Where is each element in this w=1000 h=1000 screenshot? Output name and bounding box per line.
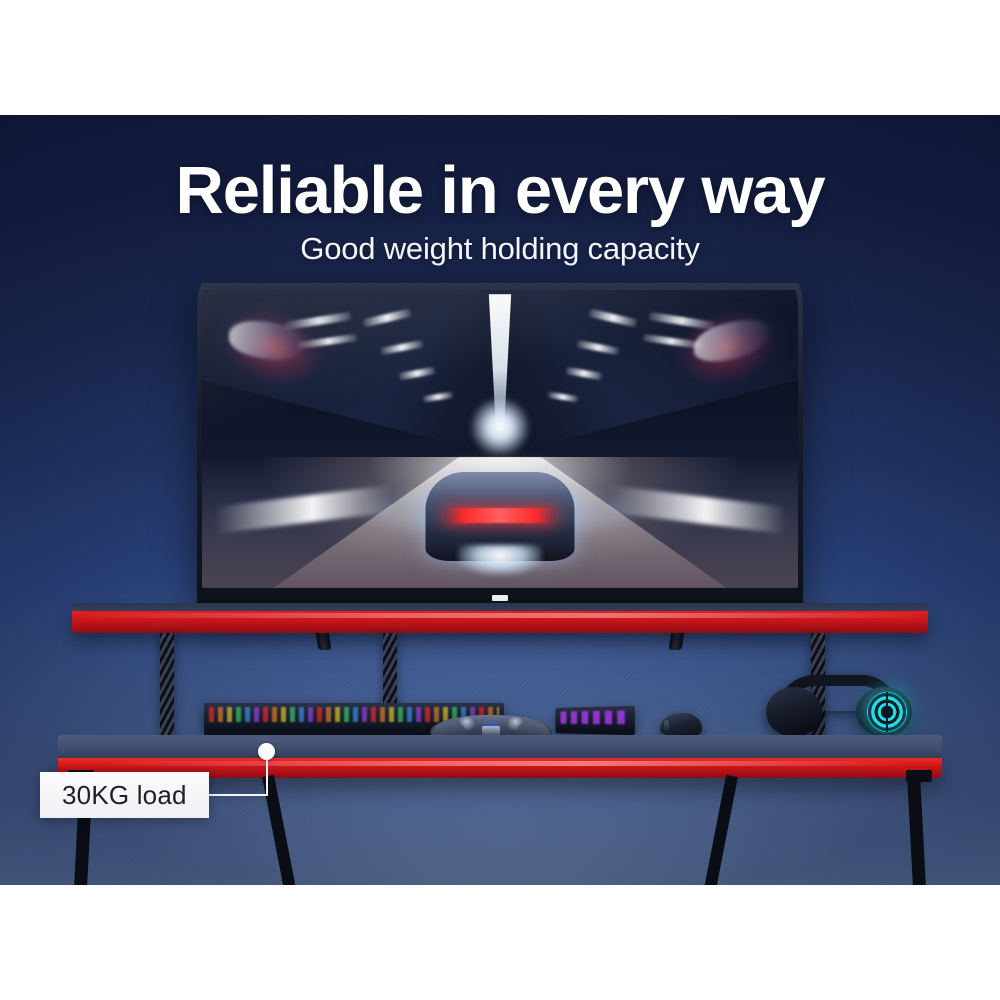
controller-touchpad [482,726,500,735]
page-title: Reliable in every way [0,157,1000,224]
game-reflected-car-right [673,292,792,400]
product-photo: Reliable in every way Good weight holdin… [0,115,1000,885]
callout-30kg-load: 30KG load [40,772,209,818]
page-subtitle: Good weight holding capacity [0,233,1000,264]
headset-earcup-right [856,687,912,737]
headset-led-ring [867,692,907,732]
callout-leader-vertical-30kg [266,759,268,795]
game-reflected-car-left [208,292,327,400]
curved-gaming-monitor [197,283,803,608]
callout-30kg-label: 30KG load [62,780,187,811]
car-underglow [458,545,541,575]
keypad-module [556,706,635,735]
callout-leader-horizontal-30kg [205,794,268,796]
car-taillight-bar [445,508,555,523]
keypad-rgb-keys [561,710,629,724]
headset-earcup-left [766,687,822,737]
game-hero-car [426,472,575,561]
game-vanishing-point-glow [469,398,531,456]
monitor-riser-shelf [72,603,928,633]
gaming-mouse [660,713,702,737]
riser-shelf-red-edge [72,611,928,633]
callout-anchor-dot-30kg [258,743,275,760]
gaming-headset [766,675,912,737]
monitor-screen [202,290,798,588]
monitor-brand-logo [492,595,508,601]
product-banner: Reliable in every way Good weight holdin… [0,0,1000,1000]
